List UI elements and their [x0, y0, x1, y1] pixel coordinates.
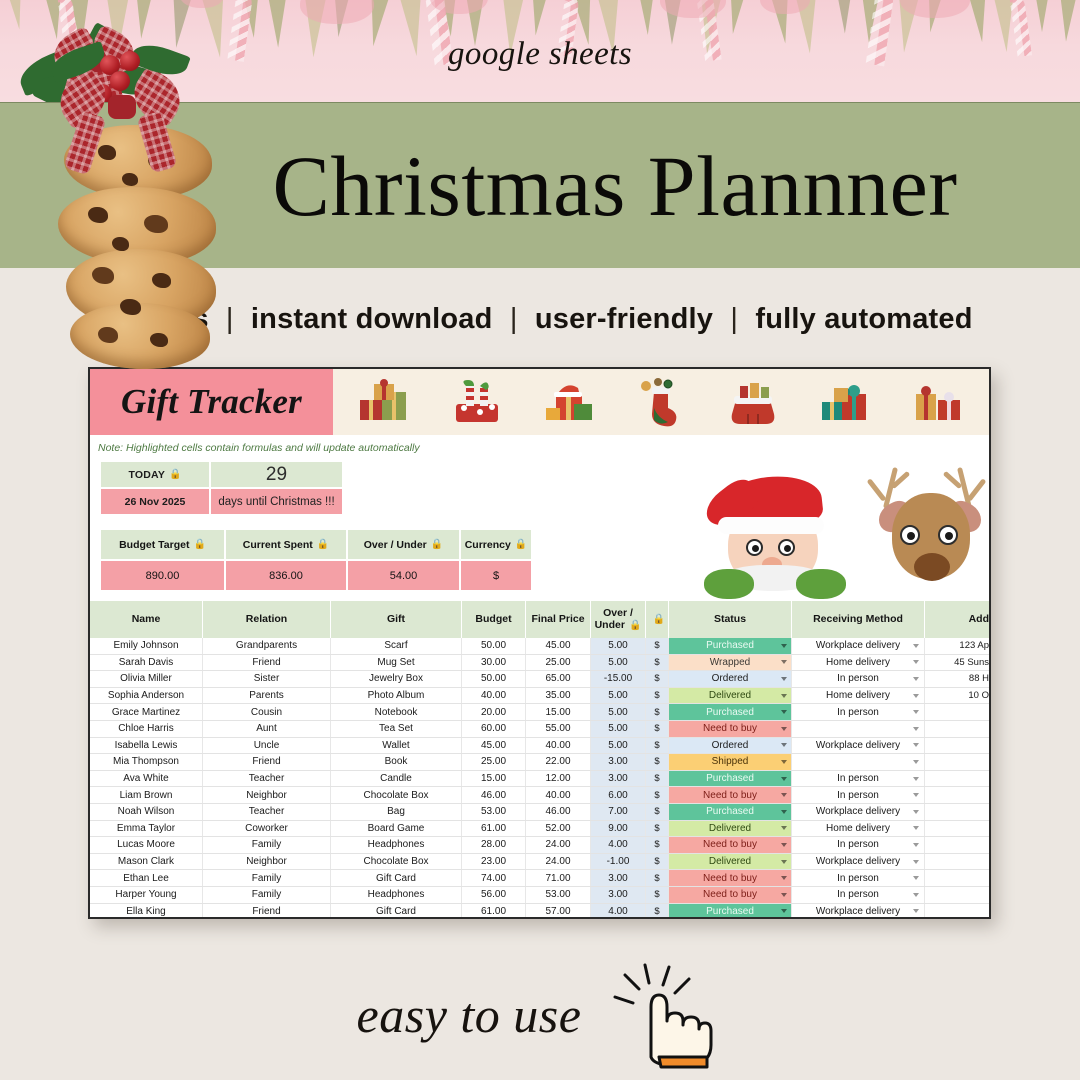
- cell-over-under: -15.00: [591, 671, 646, 687]
- cell-gift[interactable]: Gift Card: [331, 870, 462, 886]
- chevron-down-icon[interactable]: [913, 727, 919, 731]
- chevron-down-icon[interactable]: [781, 644, 787, 648]
- chevron-down-icon[interactable]: [913, 710, 919, 714]
- cell-address[interactable]: [925, 870, 991, 886]
- table-row[interactable]: Ethan LeeFamilyGift Card74.0071.003.00$N…: [90, 870, 991, 887]
- cell-address[interactable]: [925, 704, 991, 720]
- cell-receiving-method[interactable]: Workplace delivery: [792, 638, 925, 654]
- table-row[interactable]: Emily JohnsonGrandparentsScarf50.0045.00…: [90, 638, 991, 655]
- chevron-down-icon[interactable]: [913, 677, 919, 681]
- today-label: TODAY: [128, 469, 165, 481]
- receiving-method-dropdown[interactable]: Workplace delivery: [792, 854, 924, 870]
- cell-budget[interactable]: 74.00: [462, 870, 526, 886]
- cell-relation[interactable]: Friend: [203, 904, 331, 920]
- cell-final-price[interactable]: 71.00: [526, 870, 591, 886]
- column-header-relation: Relation: [203, 601, 331, 638]
- pine-branch: [835, 0, 853, 34]
- chevron-down-icon[interactable]: [781, 743, 787, 747]
- cell-status[interactable]: Delivered: [669, 854, 792, 870]
- cell-relation[interactable]: Uncle: [203, 738, 331, 754]
- cell-address[interactable]: [925, 787, 991, 803]
- cell-receiving-method[interactable]: Workplace delivery: [792, 804, 925, 820]
- chevron-down-icon[interactable]: [781, 793, 787, 797]
- cell-gift[interactable]: Mug Set: [331, 655, 462, 671]
- cell-receiving-method[interactable]: Home delivery: [792, 688, 925, 704]
- cell-over-under: 4.00: [591, 837, 646, 853]
- pine-branch: [724, 0, 748, 35]
- over-under-header-text: Over / Under: [595, 607, 633, 631]
- cell-final-price[interactable]: 22.00: [526, 754, 591, 770]
- cell-relation[interactable]: Cousin: [203, 704, 331, 720]
- cell-budget[interactable]: 60.00: [462, 721, 526, 737]
- chevron-down-icon[interactable]: [913, 777, 919, 781]
- cell-budget[interactable]: 56.00: [462, 887, 526, 903]
- cell-over-under: 6.00: [591, 787, 646, 803]
- table-row[interactable]: Sarah DavisFriendMug Set30.0025.005.00$W…: [90, 655, 991, 672]
- cell-budget[interactable]: 20.00: [462, 704, 526, 720]
- feature-separator: |: [501, 303, 527, 335]
- table-row[interactable]: Ella KingFriendGift Card61.0057.004.00$P…: [90, 904, 991, 920]
- status-badge[interactable]: Need to buy: [669, 787, 791, 803]
- poster-page: google sheets: [0, 0, 1080, 1080]
- cell-address[interactable]: [925, 771, 991, 787]
- budget-header-row: Budget Target🔒 Current Spent🔒 Over / Und…: [100, 529, 532, 560]
- cell-name[interactable]: Emily Johnson: [90, 638, 203, 654]
- chevron-down-icon[interactable]: [913, 860, 919, 864]
- cell-budget[interactable]: 61.00: [462, 904, 526, 920]
- receiving-method-dropdown[interactable]: In person: [792, 887, 924, 903]
- column-header-address: Add: [925, 601, 991, 638]
- cell-name[interactable]: Emma Taylor: [90, 821, 203, 837]
- cell-status[interactable]: Purchased: [669, 638, 792, 654]
- cell-receiving-method[interactable]: In person: [792, 671, 925, 687]
- click-hand-icon: [603, 961, 723, 1069]
- receiving-method-dropdown[interactable]: [792, 721, 924, 737]
- status-badge[interactable]: Ordered: [669, 671, 791, 687]
- cell-name[interactable]: Mia Thompson: [90, 754, 203, 770]
- cell-budget[interactable]: 61.00: [462, 821, 526, 837]
- status-badge[interactable]: Purchased: [669, 804, 791, 820]
- cell-name[interactable]: Lucas Moore: [90, 837, 203, 853]
- cell-relation[interactable]: Friend: [203, 655, 331, 671]
- cell-budget[interactable]: 23.00: [462, 854, 526, 870]
- cell-final-price[interactable]: 40.00: [526, 738, 591, 754]
- budget-summary-block: Budget Target🔒 Current Spent🔒 Over / Und…: [100, 529, 532, 591]
- cell-receiving-method[interactable]: In person: [792, 704, 925, 720]
- cell-gift[interactable]: Board Game: [331, 821, 462, 837]
- cell-address[interactable]: 88 H: [925, 671, 991, 687]
- cell-final-price[interactable]: 15.00: [526, 704, 591, 720]
- cell-over-under: 5.00: [591, 704, 646, 720]
- currency-header: Currency🔒: [460, 529, 532, 560]
- receiving-method-dropdown[interactable]: Workplace delivery: [792, 638, 924, 654]
- cell-receiving-method[interactable]: In person: [792, 870, 925, 886]
- chevron-down-icon[interactable]: [781, 876, 787, 880]
- cell-gift[interactable]: Wallet: [331, 738, 462, 754]
- receiving-method-dropdown[interactable]: Workplace delivery: [792, 738, 924, 754]
- cell-status[interactable]: Ordered: [669, 738, 792, 754]
- cell-receiving-method[interactable]: Home delivery: [792, 821, 925, 837]
- today-date-cell[interactable]: 26 Nov 2025: [100, 488, 210, 515]
- cell-address[interactable]: [925, 804, 991, 820]
- over-under-value: 54.00: [347, 560, 460, 591]
- cell-final-price[interactable]: 46.00: [526, 804, 591, 820]
- cell-name[interactable]: Sarah Davis: [90, 655, 203, 671]
- chevron-down-icon[interactable]: [781, 760, 787, 764]
- chevron-down-icon[interactable]: [913, 694, 919, 698]
- cell-address[interactable]: 10 O: [925, 688, 991, 704]
- cell-status[interactable]: Shipped: [669, 754, 792, 770]
- chevron-down-icon[interactable]: [781, 660, 787, 664]
- cell-receiving-method[interactable]: In person: [792, 837, 925, 853]
- status-badge[interactable]: Delivered: [669, 821, 791, 837]
- formula-note-text: Note: Highlighted cells contain formulas…: [98, 442, 420, 454]
- cell-name[interactable]: Liam Brown: [90, 787, 203, 803]
- cell-over-under: 5.00: [591, 638, 646, 654]
- cell-address[interactable]: 123 Ap: [925, 638, 991, 654]
- cell-gift[interactable]: Chocolate Box: [331, 854, 462, 870]
- chevron-down-icon[interactable]: [781, 843, 787, 847]
- table-row[interactable]: Olivia MillerSisterJewelry Box50.0065.00…: [90, 671, 991, 688]
- chevron-down-icon[interactable]: [781, 677, 787, 681]
- cell-budget[interactable]: 15.00: [462, 771, 526, 787]
- title-band: Christmas Plannner: [0, 102, 1080, 268]
- cell-final-price[interactable]: 65.00: [526, 671, 591, 687]
- cell-status[interactable]: Purchased: [669, 904, 792, 920]
- cell-gift[interactable]: Headphones: [331, 887, 462, 903]
- cell-status[interactable]: Need to buy: [669, 870, 792, 886]
- cell-relation[interactable]: Family: [203, 870, 331, 886]
- cell-final-price[interactable]: 40.00: [526, 787, 591, 803]
- chevron-down-icon[interactable]: [913, 793, 919, 797]
- cell-status[interactable]: Ordered: [669, 671, 792, 687]
- cell-gift[interactable]: Book: [331, 754, 462, 770]
- chevron-down-icon[interactable]: [913, 660, 919, 664]
- cell-name[interactable]: Ava White: [90, 771, 203, 787]
- column-header-budget: Budget: [462, 601, 526, 638]
- cell-status[interactable]: Delivered: [669, 688, 792, 704]
- cell-final-price[interactable]: 24.00: [526, 837, 591, 853]
- cell-final-price[interactable]: 12.00: [526, 771, 591, 787]
- cell-status[interactable]: Purchased: [669, 804, 792, 820]
- cell-name[interactable]: Ethan Lee: [90, 870, 203, 886]
- sheet-title-text: Gift Tracker: [121, 382, 302, 422]
- chevron-down-icon[interactable]: [781, 810, 787, 814]
- cell-currency: $: [646, 638, 669, 654]
- cell-status[interactable]: Need to buy: [669, 787, 792, 803]
- cell-budget[interactable]: 30.00: [462, 655, 526, 671]
- cell-receiving-method[interactable]: Workplace delivery: [792, 738, 925, 754]
- chevron-down-icon[interactable]: [913, 743, 919, 747]
- cell-receiving-method[interactable]: [792, 721, 925, 737]
- decorative-icon-strip: [333, 369, 989, 435]
- receiving-method-dropdown[interactable]: Home delivery: [792, 688, 924, 704]
- cell-relation[interactable]: Aunt: [203, 721, 331, 737]
- table-body: Emily JohnsonGrandparentsScarf50.0045.00…: [90, 638, 991, 919]
- cell-relation[interactable]: Friend: [203, 754, 331, 770]
- cell-over-under: 3.00: [591, 887, 646, 903]
- cell-final-price[interactable]: 45.00: [526, 638, 591, 654]
- cell-gift[interactable]: Scarf: [331, 638, 462, 654]
- cell-currency: $: [646, 887, 669, 903]
- cell-relation[interactable]: Coworker: [203, 821, 331, 837]
- lock-icon: 🔒: [515, 539, 527, 550]
- teal-gifts-icon: [816, 375, 874, 429]
- cell-receiving-method[interactable]: In person: [792, 887, 925, 903]
- cell-status[interactable]: Need to buy: [669, 887, 792, 903]
- receiving-method-dropdown[interactable]: Home delivery: [792, 655, 924, 671]
- cell-over-under: 3.00: [591, 771, 646, 787]
- table-row[interactable]: Lucas MooreFamilyHeadphones28.0024.004.0…: [90, 837, 991, 854]
- santa-icon: [708, 477, 840, 587]
- table-row[interactable]: Sophia AndersonParentsPhoto Album40.0035…: [90, 688, 991, 705]
- cell-name[interactable]: Ella King: [90, 904, 203, 920]
- cell-status[interactable]: Delivered: [669, 821, 792, 837]
- table-row[interactable]: Ava WhiteTeacherCandle15.0012.003.00$Pur…: [90, 771, 991, 788]
- cell-status[interactable]: Purchased: [669, 704, 792, 720]
- cell-name[interactable]: Noah Wilson: [90, 804, 203, 820]
- chevron-down-icon[interactable]: [781, 860, 787, 864]
- cell-currency: $: [646, 688, 669, 704]
- chevron-down-icon[interactable]: [781, 727, 787, 731]
- cell-budget[interactable]: 40.00: [462, 688, 526, 704]
- cell-gift[interactable]: Tea Set: [331, 721, 462, 737]
- cell-budget[interactable]: 53.00: [462, 804, 526, 820]
- receiving-method-dropdown[interactable]: [792, 754, 924, 770]
- today-label-cell: TODAY 🔒: [100, 461, 210, 488]
- status-badge[interactable]: Delivered: [669, 688, 791, 704]
- cell-status[interactable]: Wrapped: [669, 655, 792, 671]
- sheet-title-bar: Gift Tracker: [90, 369, 989, 435]
- cell-address[interactable]: [925, 854, 991, 870]
- cell-name[interactable]: Harper Young: [90, 887, 203, 903]
- cell-address[interactable]: 45 Suns: [925, 655, 991, 671]
- cell-currency: $: [646, 655, 669, 671]
- table-row[interactable]: Grace MartinezCousinNotebook20.0015.005.…: [90, 704, 991, 721]
- cell-over-under: 3.00: [591, 754, 646, 770]
- cell-over-under: 9.00: [591, 821, 646, 837]
- budget-target-value[interactable]: 890.00: [100, 560, 225, 591]
- cell-relation[interactable]: Neighbor: [203, 787, 331, 803]
- receiving-method-dropdown[interactable]: In person: [792, 837, 924, 853]
- currency-value[interactable]: $: [460, 560, 532, 591]
- current-spent-header: Current Spent🔒: [225, 529, 347, 560]
- cell-name[interactable]: Grace Martinez: [90, 704, 203, 720]
- receiving-method-dropdown[interactable]: In person: [792, 787, 924, 803]
- cell-over-under: 5.00: [591, 655, 646, 671]
- cell-budget[interactable]: 50.00: [462, 671, 526, 687]
- column-header-name: Name: [90, 601, 203, 638]
- cell-relation[interactable]: Teacher: [203, 804, 331, 820]
- receiving-method-dropdown[interactable]: Home delivery: [792, 821, 924, 837]
- pine-branch: [527, 0, 551, 36]
- cell-over-under: -1.00: [591, 854, 646, 870]
- cell-name[interactable]: Mason Clark: [90, 854, 203, 870]
- table-row[interactable]: Mason ClarkNeighborChocolate Box23.0024.…: [90, 854, 991, 871]
- cell-gift[interactable]: Chocolate Box: [331, 787, 462, 803]
- status-badge[interactable]: Shipped: [669, 754, 791, 770]
- cell-gift[interactable]: Gift Card: [331, 904, 462, 920]
- cell-status[interactable]: Need to buy: [669, 837, 792, 853]
- chevron-down-icon[interactable]: [781, 694, 787, 698]
- cell-currency: $: [646, 837, 669, 853]
- status-badge[interactable]: Need to buy: [669, 837, 791, 853]
- cell-currency: $: [646, 854, 669, 870]
- cell-address[interactable]: [925, 904, 991, 920]
- currency-label: Currency: [465, 539, 511, 551]
- cell-currency: $: [646, 704, 669, 720]
- formula-note-row: Note: Highlighted cells contain formulas…: [90, 435, 989, 461]
- cell-address[interactable]: [925, 738, 991, 754]
- chevron-down-icon[interactable]: [781, 710, 787, 714]
- column-header-status: Status: [669, 601, 792, 638]
- lock-icon: 🔒: [431, 539, 443, 550]
- cell-gift[interactable]: Photo Album: [331, 688, 462, 704]
- cell-receiving-method[interactable]: Workplace delivery: [792, 904, 925, 920]
- cell-currency: $: [646, 754, 669, 770]
- table-row[interactable]: Emma TaylorCoworkerBoard Game61.0052.009…: [90, 821, 991, 838]
- cell-final-price[interactable]: 35.00: [526, 688, 591, 704]
- column-header-final-price: Final Price: [526, 601, 591, 638]
- gift-table[interactable]: Name Relation Gift Budget Final Price Ov…: [90, 601, 991, 919]
- receiving-method-dropdown[interactable]: In person: [792, 671, 924, 687]
- status-badge[interactable]: Purchased: [669, 771, 791, 787]
- receiving-method-dropdown[interactable]: Workplace delivery: [792, 804, 924, 820]
- cell-over-under: 5.00: [591, 688, 646, 704]
- table-header-row: Name Relation Gift Budget Final Price Ov…: [90, 601, 991, 638]
- cell-name[interactable]: Olivia Miller: [90, 671, 203, 687]
- cell-receiving-method[interactable]: Workplace delivery: [792, 854, 925, 870]
- table-row[interactable]: Isabella LewisUncleWallet45.0040.005.00$…: [90, 738, 991, 755]
- cell-receiving-method[interactable]: In person: [792, 787, 925, 803]
- status-badge[interactable]: Need to buy: [669, 870, 791, 886]
- chevron-down-icon[interactable]: [913, 909, 919, 913]
- cell-budget[interactable]: 46.00: [462, 787, 526, 803]
- sheet-tab-title[interactable]: Gift Tracker: [90, 369, 333, 435]
- cell-address[interactable]: [925, 721, 991, 737]
- cell-relation[interactable]: Family: [203, 837, 331, 853]
- table-row[interactable]: Liam BrownNeighborChocolate Box46.0040.0…: [90, 787, 991, 804]
- chevron-down-icon[interactable]: [913, 826, 919, 830]
- cell-receiving-method[interactable]: In person: [792, 771, 925, 787]
- cell-gift[interactable]: Jewelry Box: [331, 671, 462, 687]
- cell-name[interactable]: Chloe Harris: [90, 721, 203, 737]
- table-row[interactable]: Mia ThompsonFriendBook25.0022.003.00$Shi…: [90, 754, 991, 771]
- cell-currency: $: [646, 738, 669, 754]
- chevron-down-icon[interactable]: [781, 909, 787, 913]
- table-row[interactable]: Noah WilsonTeacherBag53.0046.007.00$Purc…: [90, 804, 991, 821]
- cell-name[interactable]: Isabella Lewis: [90, 738, 203, 754]
- status-badge[interactable]: Wrapped: [669, 655, 791, 671]
- cell-gift[interactable]: Notebook: [331, 704, 462, 720]
- status-badge[interactable]: Purchased: [669, 638, 791, 654]
- cell-receiving-method[interactable]: Home delivery: [792, 655, 925, 671]
- chevron-down-icon[interactable]: [913, 876, 919, 880]
- cell-final-price[interactable]: 24.00: [526, 854, 591, 870]
- cell-relation[interactable]: Parents: [203, 688, 331, 704]
- cell-relation[interactable]: Sister: [203, 671, 331, 687]
- cell-budget[interactable]: 28.00: [462, 837, 526, 853]
- countdown-label-cell: days until Christmas !!!: [210, 488, 343, 515]
- feature-automated: fully automated: [755, 303, 972, 335]
- cell-currency: $: [646, 671, 669, 687]
- chevron-down-icon[interactable]: [781, 826, 787, 830]
- chevron-down-icon[interactable]: [781, 777, 787, 781]
- receiving-method-dropdown[interactable]: In person: [792, 771, 924, 787]
- column-header-over-under: Over / Under🔒: [591, 601, 646, 638]
- budget-target-header: Budget Target🔒: [100, 529, 225, 560]
- feature-separator: |: [721, 303, 747, 335]
- cell-address[interactable]: [925, 754, 991, 770]
- cell-address[interactable]: [925, 887, 991, 903]
- red-gifts-icon: [908, 375, 966, 429]
- cell-gift[interactable]: Headphones: [331, 837, 462, 853]
- status-badge[interactable]: Delivered: [669, 854, 791, 870]
- over-under-header: Over / Under🔒: [347, 529, 460, 560]
- lock-icon: 🔒: [169, 469, 181, 480]
- lock-icon: 🔒: [193, 539, 205, 550]
- pine-branch: [637, 0, 657, 35]
- cookie-stack-decoration: [40, 41, 260, 371]
- cell-relation[interactable]: Grandparents: [203, 638, 331, 654]
- table-row[interactable]: Chloe HarrisAuntTea Set60.0055.005.00$Ne…: [90, 721, 991, 738]
- cell-gift[interactable]: Bag: [331, 804, 462, 820]
- cell-relation[interactable]: Teacher: [203, 771, 331, 787]
- cell-budget[interactable]: 50.00: [462, 638, 526, 654]
- status-badge[interactable]: Ordered: [669, 738, 791, 754]
- cell-address[interactable]: [925, 821, 991, 837]
- cell-final-price[interactable]: 55.00: [526, 721, 591, 737]
- receiving-method-dropdown[interactable]: In person: [792, 870, 924, 886]
- cell-final-price[interactable]: 57.00: [526, 904, 591, 920]
- receiving-method-dropdown[interactable]: Workplace delivery: [792, 904, 924, 920]
- cell-gift[interactable]: Candle: [331, 771, 462, 787]
- today-countdown-block: TODAY 🔒 29 26 Nov 2025 days until Christ…: [100, 461, 343, 515]
- cell-final-price[interactable]: 52.00: [526, 821, 591, 837]
- status-badge[interactable]: Need to buy: [669, 887, 791, 903]
- table-row[interactable]: Harper YoungFamilyHeadphones56.0053.003.…: [90, 887, 991, 904]
- cell-status[interactable]: Purchased: [669, 771, 792, 787]
- status-badge[interactable]: Purchased: [669, 904, 791, 920]
- cell-receiving-method[interactable]: [792, 754, 925, 770]
- easy-to-use-text: easy to use: [357, 986, 582, 1044]
- chevron-down-icon[interactable]: [913, 760, 919, 764]
- lock-icon: 🔒: [317, 539, 329, 550]
- pine-branch: [1034, 0, 1051, 32]
- status-badge[interactable]: Purchased: [669, 704, 791, 720]
- cell-budget[interactable]: 45.00: [462, 738, 526, 754]
- chevron-down-icon[interactable]: [913, 893, 919, 897]
- cell-name[interactable]: Sophia Anderson: [90, 688, 203, 704]
- receiving-method-dropdown[interactable]: In person: [792, 704, 924, 720]
- chevron-down-icon[interactable]: [913, 810, 919, 814]
- spreadsheet-screenshot[interactable]: Gift Tracker Note: Highlighted cells con…: [88, 367, 991, 919]
- chevron-down-icon[interactable]: [913, 644, 919, 648]
- status-badge[interactable]: Need to buy: [669, 721, 791, 737]
- cell-final-price[interactable]: 53.00: [526, 887, 591, 903]
- cell-status[interactable]: Need to buy: [669, 721, 792, 737]
- santa-hat-gift-icon: [540, 375, 598, 429]
- column-header-currency: 🔒: [646, 601, 669, 638]
- cell-address[interactable]: [925, 837, 991, 853]
- cell-final-price[interactable]: 25.00: [526, 655, 591, 671]
- cell-relation[interactable]: Neighbor: [203, 854, 331, 870]
- cell-over-under: 3.00: [591, 870, 646, 886]
- chevron-down-icon[interactable]: [913, 843, 919, 847]
- cell-budget[interactable]: 25.00: [462, 754, 526, 770]
- chevron-down-icon[interactable]: [781, 893, 787, 897]
- cell-relation[interactable]: Family: [203, 887, 331, 903]
